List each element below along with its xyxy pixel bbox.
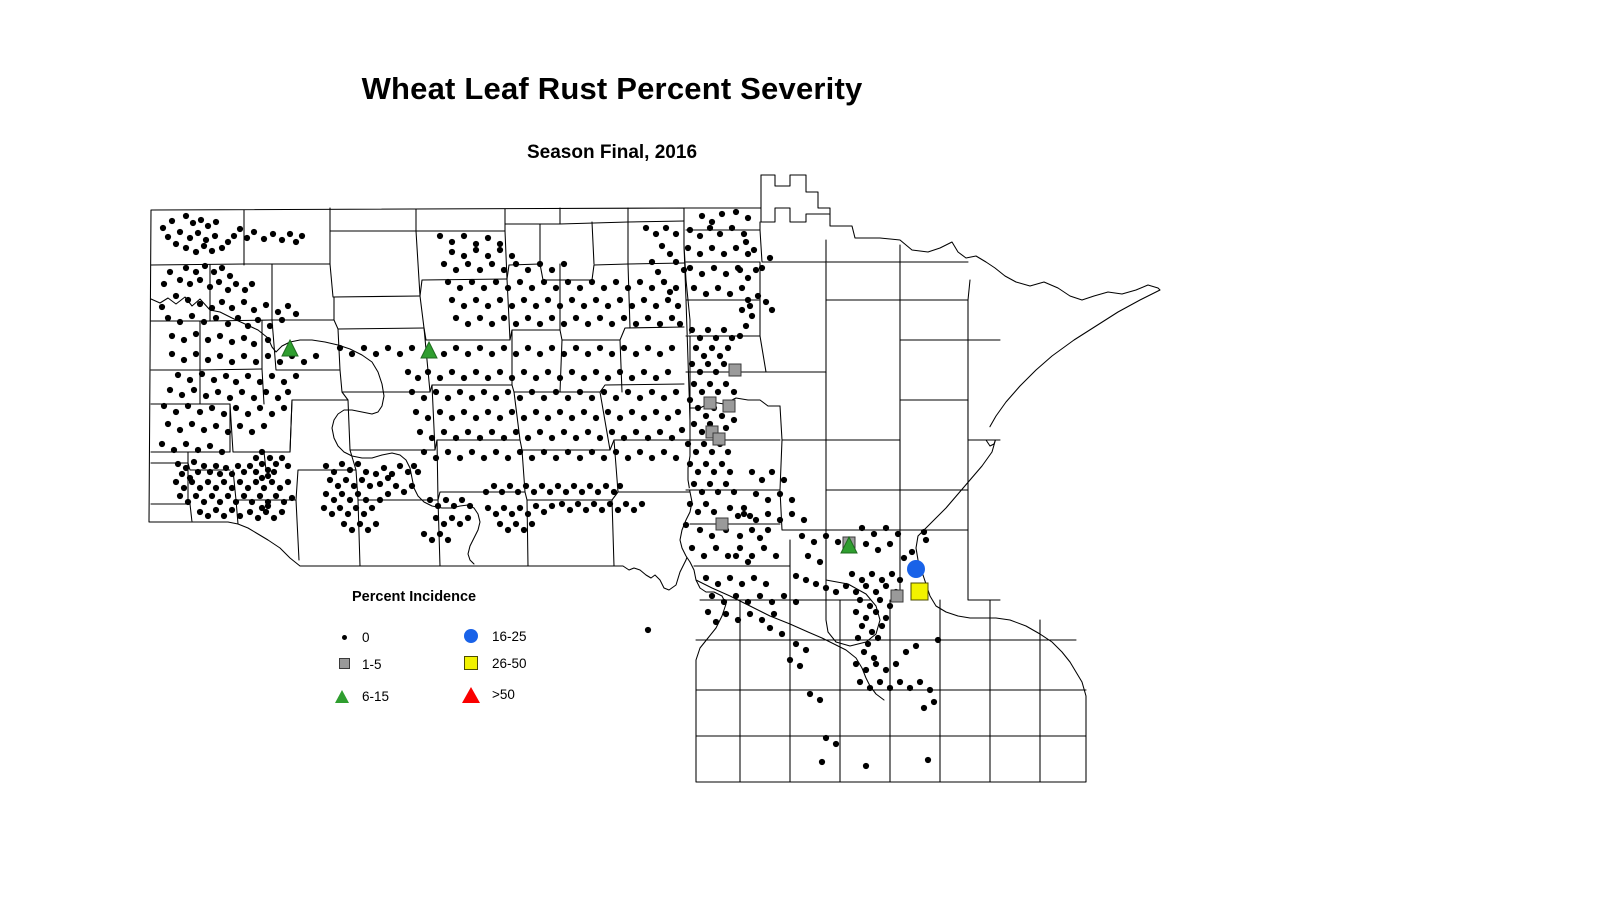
marker-1-5 (704, 397, 716, 409)
legend-label-16-25: 16-25 (492, 628, 527, 646)
yellow-square-icon (463, 654, 481, 672)
legend-label-6-15: 6-15 (362, 688, 389, 706)
legend-label-0: 0 (362, 629, 370, 647)
marker-26-50 (911, 583, 928, 600)
red-triangle-icon (462, 685, 480, 703)
gray-square-icon (336, 655, 354, 673)
legend-label-26-50: 26-50 (492, 655, 527, 673)
legend: Percent Incidence 0 1-5 6-15 16-25 26-50… (330, 585, 570, 715)
legend-label-over-50: >50 (492, 686, 515, 704)
marker-16-25 (907, 560, 925, 578)
marker-1-5 (723, 400, 735, 412)
marker-1-5 (729, 364, 741, 376)
map-canvas: Wheat Leaf Rust Percent Severity Season … (0, 0, 1612, 900)
map-figure (0, 0, 1612, 900)
marker-1-5 (713, 433, 725, 445)
map-svg (0, 0, 1612, 900)
blue-circle-icon (463, 627, 481, 645)
marker-1-5 (716, 518, 728, 530)
legend-label-1-5: 1-5 (362, 656, 382, 674)
legend-title: Percent Incidence (352, 589, 476, 605)
black-dot-icon (336, 628, 354, 646)
green-triangle-icon (333, 687, 351, 705)
marker-1-5 (891, 590, 903, 602)
county-boundaries (149, 175, 1160, 782)
